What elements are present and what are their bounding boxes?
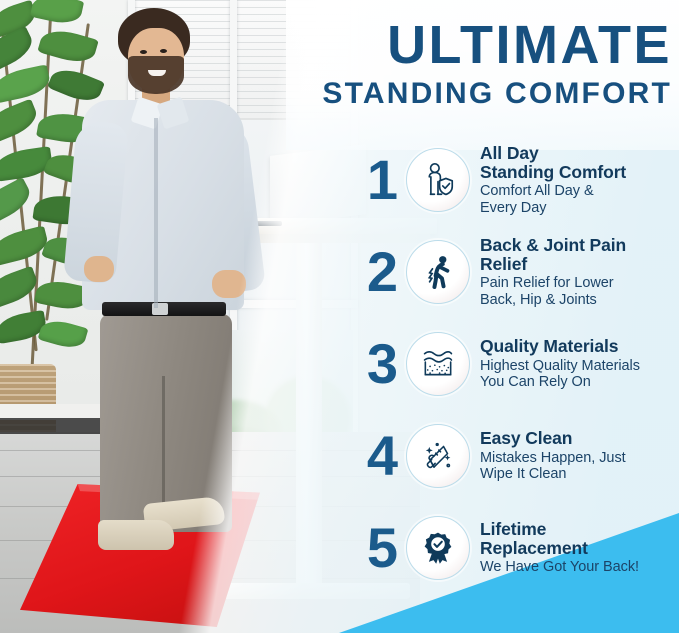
page-subtitle: STANDING COMFORT bbox=[300, 77, 672, 110]
feature-title: Lifetime Replacement bbox=[480, 520, 679, 557]
feature-description: Highest Quality Materials You Can Rely O… bbox=[480, 358, 679, 390]
feature-item-4: 4 Easy Clean Mi bbox=[360, 410, 679, 502]
foam-layers-icon bbox=[406, 332, 470, 396]
award-badge-check-icon bbox=[406, 516, 470, 580]
headline-block: ULTIMATE STANDING COMFORT bbox=[300, 20, 672, 110]
back-pain-relief-icon bbox=[406, 240, 470, 304]
feature-item-2: 2 Back & Joint Pain Relief Pain Relief bbox=[360, 226, 679, 318]
feature-description: Pain Relief for Lower Back, Hip & Joints bbox=[480, 275, 679, 307]
person-standing bbox=[56, 4, 276, 564]
feature-text: Back & Joint Pain Relief Pain Relief for… bbox=[476, 236, 679, 308]
feature-title: Easy Clean bbox=[480, 429, 679, 448]
feature-item-5: 5 Lifetime Replacement We Have Got Your … bbox=[360, 502, 679, 594]
monitor bbox=[270, 144, 366, 226]
person-shield-icon bbox=[406, 148, 470, 212]
feature-item-3: 3 bbox=[360, 318, 679, 410]
feature-text: Quality Materials Highest Quality Materi… bbox=[476, 337, 679, 390]
feature-number: 5 bbox=[360, 520, 404, 576]
feature-title: All Day Standing Comfort bbox=[480, 144, 679, 181]
feature-list: 1 All Day Standing Comfort Comfort All bbox=[360, 134, 679, 594]
feature-description: We Have Got Your Back! bbox=[480, 559, 679, 575]
feature-text: Easy Clean Mistakes Happen, Just Wipe It… bbox=[476, 429, 679, 482]
feature-text: Lifetime Replacement We Have Got Your Ba… bbox=[476, 520, 679, 575]
feature-title: Back & Joint Pain Relief bbox=[480, 236, 679, 273]
infographic-canvas: ULTIMATE STANDING COMFORT 1 All Day bbox=[0, 0, 679, 633]
feature-description: Mistakes Happen, Just Wipe It Clean bbox=[480, 450, 679, 482]
feature-description: Comfort All Day & Every Day bbox=[480, 183, 679, 215]
feature-item-1: 1 All Day Standing Comfort Comfort All bbox=[360, 134, 679, 226]
feature-number: 1 bbox=[360, 152, 404, 208]
feature-number: 4 bbox=[360, 428, 404, 484]
feature-number: 2 bbox=[360, 244, 404, 300]
desk-column bbox=[296, 243, 322, 583]
page-title: ULTIMATE bbox=[300, 20, 672, 71]
feature-title: Quality Materials bbox=[480, 337, 679, 356]
feature-number: 3 bbox=[360, 336, 404, 392]
feature-text: All Day Standing Comfort Comfort All Day… bbox=[476, 144, 679, 216]
hand-wipe-sparkle-icon bbox=[406, 424, 470, 488]
